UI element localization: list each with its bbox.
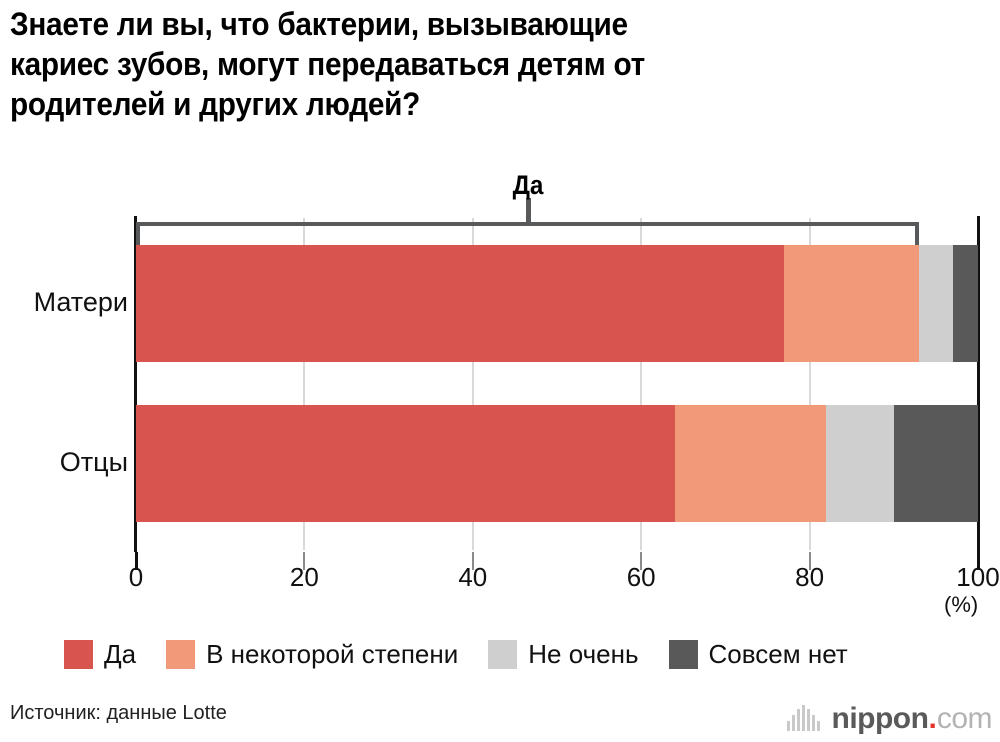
legend-swatch-somewhat bbox=[166, 640, 195, 669]
legend-swatch-yes bbox=[64, 640, 93, 669]
bar-segment[interactable] bbox=[136, 405, 675, 522]
legend-item-not-at-all[interactable]: Совсем нет bbox=[669, 639, 848, 670]
x-tick-label-0: 0 bbox=[96, 562, 176, 593]
legend-item-yes[interactable]: Да bbox=[64, 639, 136, 670]
logo-wordmark: nippon bbox=[832, 704, 929, 734]
legend-item-not-really[interactable]: Не очень bbox=[488, 639, 638, 670]
legend-label-somewhat: В некоторой степени bbox=[206, 639, 458, 670]
chart-plot-area: Да Матери Отцы 020406080100 (%) bbox=[0, 0, 1000, 742]
bar-segment[interactable] bbox=[675, 405, 827, 522]
annotation-stem bbox=[526, 198, 531, 224]
nippon-logo[interactable]: nippon . com bbox=[787, 700, 993, 734]
legend-item-somewhat[interactable]: В некоторой степени bbox=[166, 639, 458, 670]
sound-bars-icon bbox=[787, 705, 822, 731]
bar-segment[interactable] bbox=[826, 405, 893, 522]
legend-label-not-really: Не очень bbox=[528, 639, 638, 670]
x-tick-label-20: 20 bbox=[264, 562, 344, 593]
bar-row[interactable] bbox=[136, 405, 978, 522]
legend-label-not-at-all: Совсем нет bbox=[709, 639, 848, 670]
x-axis-unit-label: (%) bbox=[944, 592, 978, 618]
annotation-label: Да bbox=[474, 170, 582, 201]
logo-tld: com bbox=[937, 704, 992, 734]
bar-segment[interactable] bbox=[894, 405, 978, 522]
bar-row[interactable] bbox=[136, 245, 978, 362]
x-tick-label-60: 60 bbox=[601, 562, 681, 593]
bar-segment[interactable] bbox=[784, 245, 919, 362]
source-note: Источник: данные Lotte bbox=[10, 702, 227, 725]
bar-segment[interactable] bbox=[136, 245, 784, 362]
chart-legend: Да В некоторой степени Не очень Совсем н… bbox=[64, 634, 878, 674]
x-tick-label-40: 40 bbox=[433, 562, 513, 593]
legend-swatch-not-at-all bbox=[669, 640, 698, 669]
bar-segment[interactable] bbox=[953, 245, 978, 362]
logo-dot: . bbox=[928, 704, 936, 734]
x-tick-label-100: 100 bbox=[938, 562, 1000, 593]
legend-swatch-not-really bbox=[488, 640, 517, 669]
category-label-fathers: Отцы bbox=[60, 447, 128, 478]
bar-segment[interactable] bbox=[919, 245, 953, 362]
annotation-bracket bbox=[136, 222, 919, 246]
x-tick-label-80: 80 bbox=[770, 562, 850, 593]
category-label-mothers: Матери bbox=[34, 287, 128, 318]
legend-label-yes: Да bbox=[104, 639, 136, 670]
